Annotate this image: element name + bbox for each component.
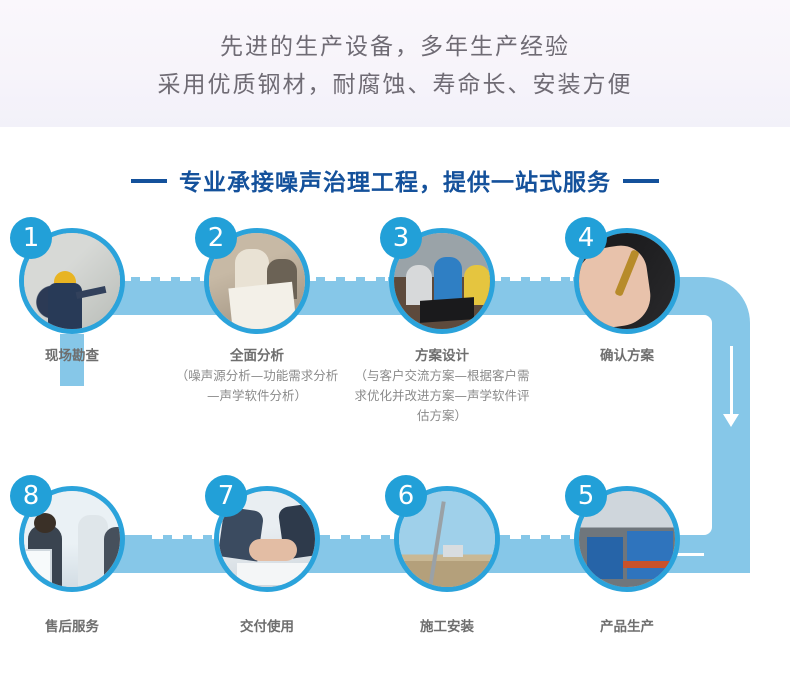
step-sublabel-3: （与客户交流方案—根据客户需求优化并改进方案—声学软件评估方案）: [353, 366, 531, 426]
step-number-badge-6: 6: [385, 475, 427, 517]
arrow-down-icon: [723, 414, 739, 427]
step-label-2: 全面分析: [162, 344, 352, 364]
step-label-8: 售后服务: [0, 615, 167, 635]
step-number-badge-5: 5: [565, 475, 607, 517]
connector-dashes-2-3: [305, 277, 388, 281]
section-title-text: 专业承接噪声治理工程，提供一站式服务: [179, 170, 611, 196]
banner-line-2: 采用优质钢材，耐腐蚀、寿命长、安装方便: [0, 65, 790, 99]
title-dash-left: [131, 179, 167, 183]
step-label-6: 施工安装: [352, 615, 542, 635]
banner-line-1: 先进的生产设备，多年生产经验: [0, 27, 790, 61]
arrow-down-stem: [730, 346, 733, 416]
step-number-badge-4: 4: [565, 217, 607, 259]
step-number-badge-7: 7: [205, 475, 247, 517]
step-label-4: 确认方案: [532, 344, 722, 364]
connector-dashes-1-2: [120, 277, 206, 281]
process-flow-diagram: 1 现场勘查 2 全面分析 （噪声源分析—功能需求分析—声学软件分析） 3 方案…: [0, 200, 790, 687]
step-sublabel-2: （噪声源分析—功能需求分析—声学软件分析）: [173, 366, 341, 406]
step-number-badge-2: 2: [195, 217, 237, 259]
step-label-3: 方案设计: [347, 344, 537, 364]
connector-dashes-3-4: [490, 277, 573, 281]
title-dash-right: [623, 179, 659, 183]
step-number-badge-1: 1: [10, 217, 52, 259]
step-number-badge-8: 8: [10, 475, 52, 517]
step-label-5: 产品生产: [532, 615, 722, 635]
connector-elbow-top-right: [704, 277, 750, 323]
section-title: 专业承接噪声治理工程，提供一站式服务: [0, 163, 790, 197]
top-banner: 先进的生产设备，多年生产经验 采用优质钢材，耐腐蚀、寿命长、安装方便: [0, 0, 790, 127]
step-label-7: 交付使用: [172, 615, 362, 635]
step-number-badge-3: 3: [380, 217, 422, 259]
step-label-1: 现场勘查: [0, 344, 167, 364]
